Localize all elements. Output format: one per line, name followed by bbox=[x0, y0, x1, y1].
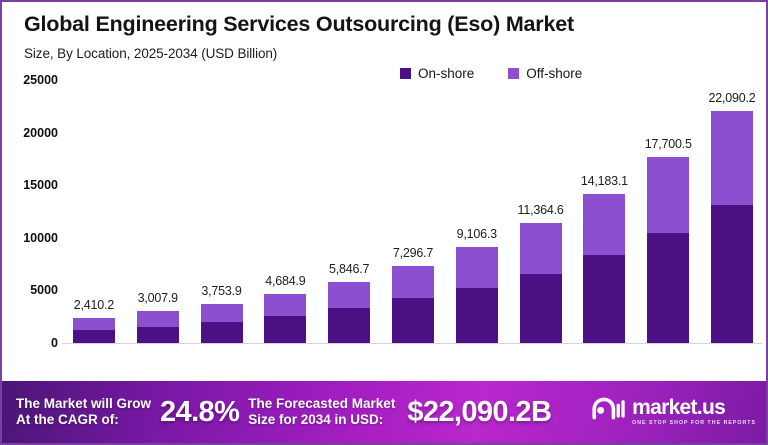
chart-header: Global Engineering Services Outsourcing … bbox=[2, 2, 766, 61]
cagr-caption: The Market will Grow At the CAGR of: bbox=[16, 396, 151, 429]
bar-stack[interactable] bbox=[647, 157, 689, 343]
bar-segment-off-shore[interactable] bbox=[392, 266, 434, 297]
infographic-root: Global Engineering Services Outsourcing … bbox=[0, 0, 768, 445]
bar-segment-off-shore[interactable] bbox=[520, 223, 562, 273]
bar-group[interactable]: 17,700.5 bbox=[636, 80, 700, 343]
bar-value-label: 11,364.6 bbox=[518, 203, 564, 217]
bar-stack[interactable] bbox=[711, 111, 753, 343]
bar-group[interactable]: 7,296.7 bbox=[381, 80, 445, 343]
bar-stack[interactable] bbox=[264, 294, 306, 343]
bar-segment-off-shore[interactable] bbox=[201, 304, 243, 323]
cagr-block: The Market will Grow At the CAGR of: 24.… bbox=[16, 396, 248, 429]
chart-subtitle: Size, By Location, 2025-2034 (USD Billio… bbox=[24, 46, 766, 61]
brand-tagline: ONE STOP SHOP FOR THE REPORTS bbox=[632, 421, 756, 426]
bar-segment-off-shore[interactable] bbox=[73, 318, 115, 331]
bar-group[interactable]: 11,364.6 bbox=[509, 80, 573, 343]
footer-banner: The Market will Grow At the CAGR of: 24.… bbox=[2, 381, 768, 443]
bar-segment-on-shore[interactable] bbox=[583, 255, 625, 343]
bar-stack[interactable] bbox=[137, 311, 179, 343]
bar-value-label: 2,410.2 bbox=[74, 298, 114, 312]
bar-series-container: 2,410.23,007.93,753.94,684.95,846.77,296… bbox=[62, 80, 764, 343]
y-axis-tick: 25000 bbox=[23, 73, 58, 87]
bar-value-label: 17,700.5 bbox=[645, 137, 692, 151]
y-axis: 0500010000150002000025000 bbox=[2, 80, 64, 372]
brand-text: market.us ONE STOP SHOP FOR THE REPORTS bbox=[632, 397, 756, 426]
bar-stack[interactable] bbox=[583, 194, 625, 343]
bar-segment-off-shore[interactable] bbox=[711, 111, 753, 205]
legend-item-on-shore[interactable]: On-shore bbox=[400, 66, 474, 81]
brand-name: market.us bbox=[632, 397, 756, 418]
bar-value-label: 22,090.2 bbox=[709, 91, 756, 105]
legend-label-on-shore: On-shore bbox=[418, 66, 474, 81]
bar-segment-on-shore[interactable] bbox=[201, 322, 243, 343]
bar-segment-on-shore[interactable] bbox=[392, 298, 434, 343]
legend-swatch-icon bbox=[400, 68, 411, 79]
bar-group[interactable]: 4,684.9 bbox=[253, 80, 317, 343]
bar-value-label: 3,753.9 bbox=[201, 284, 241, 298]
bar-value-label: 14,183.1 bbox=[581, 174, 628, 188]
bar-group[interactable]: 9,106.3 bbox=[445, 80, 509, 343]
bar-group[interactable]: 3,753.9 bbox=[190, 80, 254, 343]
bar-group[interactable]: 5,846.7 bbox=[317, 80, 381, 343]
axis-baseline bbox=[62, 343, 762, 344]
brand-logo[interactable]: market.us ONE STOP SHOP FOR THE REPORTS bbox=[591, 397, 760, 428]
cagr-caption-line-1: The Market will Grow bbox=[16, 396, 151, 412]
chart-legend: On-shore Off-shore bbox=[400, 66, 582, 81]
bar-segment-off-shore[interactable] bbox=[137, 311, 179, 326]
cagr-caption-line-2: At the CAGR of: bbox=[16, 412, 151, 428]
cagr-value: 24.8% bbox=[160, 396, 239, 429]
bar-segment-on-shore[interactable] bbox=[137, 327, 179, 343]
bar-segment-on-shore[interactable] bbox=[647, 233, 689, 343]
bar-group[interactable]: 2,410.2 bbox=[62, 80, 126, 343]
bar-group[interactable]: 3,007.9 bbox=[126, 80, 190, 343]
y-axis-tick: 0 bbox=[51, 336, 58, 350]
bar-segment-off-shore[interactable] bbox=[583, 194, 625, 255]
y-axis-tick: 15000 bbox=[23, 178, 58, 192]
chart-plot-area: 0500010000150002000025000 2,410.23,007.9… bbox=[2, 80, 768, 372]
bar-stack[interactable] bbox=[328, 282, 370, 343]
bar-group[interactable]: 14,183.1 bbox=[573, 80, 637, 343]
bar-stack[interactable] bbox=[520, 223, 562, 343]
legend-swatch-icon bbox=[508, 68, 519, 79]
forecast-caption-line-2: Size for 2034 in USD: bbox=[248, 412, 395, 428]
bar-segment-on-shore[interactable] bbox=[711, 205, 753, 343]
bar-segment-on-shore[interactable] bbox=[520, 274, 562, 343]
forecast-block: The Forecasted Market Size for 2034 in U… bbox=[248, 396, 561, 429]
bar-value-label: 3,007.9 bbox=[138, 291, 178, 305]
legend-item-off-shore[interactable]: Off-shore bbox=[508, 66, 582, 81]
legend-label-off-shore: Off-shore bbox=[526, 66, 582, 81]
bar-segment-on-shore[interactable] bbox=[456, 288, 498, 343]
forecast-caption-line-1: The Forecasted Market bbox=[248, 396, 395, 412]
bar-segment-on-shore[interactable] bbox=[328, 308, 370, 343]
bar-value-label: 9,106.3 bbox=[457, 227, 497, 241]
bar-stack[interactable] bbox=[73, 318, 115, 343]
bar-segment-off-shore[interactable] bbox=[647, 157, 689, 233]
market-us-logo-icon bbox=[591, 397, 625, 428]
bar-segment-on-shore[interactable] bbox=[264, 316, 306, 343]
y-axis-tick: 20000 bbox=[23, 126, 58, 140]
bar-value-label: 5,846.7 bbox=[329, 262, 369, 276]
page-title: Global Engineering Services Outsourcing … bbox=[24, 12, 766, 37]
bar-segment-off-shore[interactable] bbox=[264, 294, 306, 316]
bar-group[interactable]: 22,090.2 bbox=[700, 80, 764, 343]
bar-stack[interactable] bbox=[456, 247, 498, 343]
bar-segment-off-shore[interactable] bbox=[456, 247, 498, 288]
y-axis-tick: 10000 bbox=[23, 231, 58, 245]
forecast-value: $22,090.2B bbox=[407, 396, 551, 429]
bar-segment-off-shore[interactable] bbox=[328, 282, 370, 308]
bar-value-label: 7,296.7 bbox=[393, 246, 433, 260]
bar-stack[interactable] bbox=[201, 304, 243, 343]
forecast-caption: The Forecasted Market Size for 2034 in U… bbox=[248, 396, 395, 429]
y-axis-tick: 5000 bbox=[30, 283, 58, 297]
bar-segment-on-shore[interactable] bbox=[73, 330, 115, 343]
bar-value-label: 4,684.9 bbox=[265, 274, 305, 288]
bar-stack[interactable] bbox=[392, 266, 434, 343]
